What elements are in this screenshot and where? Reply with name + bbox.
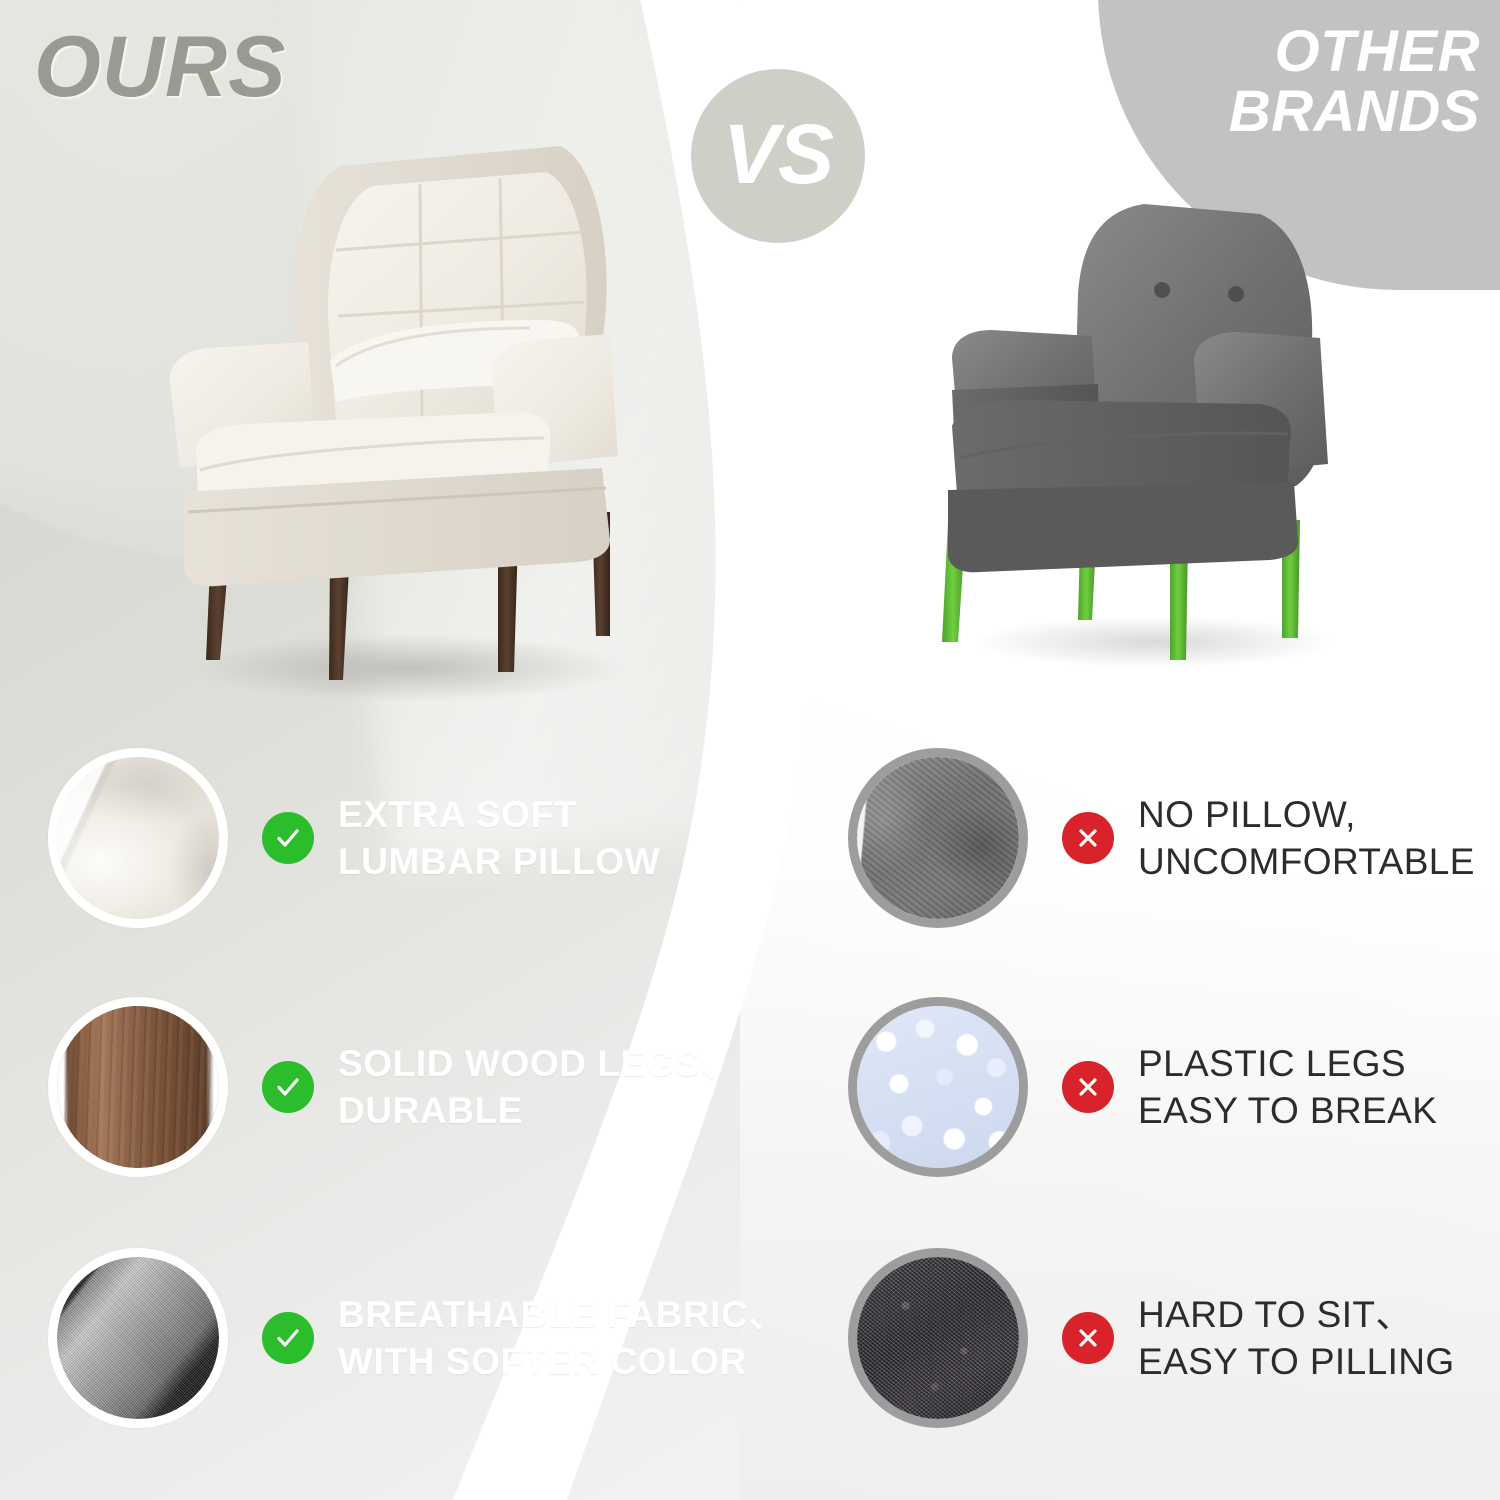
vs-badge: VS <box>678 56 878 256</box>
other-feature-1-line2: UNCOMFORTABLE <box>1138 838 1475 885</box>
ours-feature-1-line2: LUMBAR PILLOW <box>338 838 660 885</box>
ours-feature-3-line2: WITH SOFTER COLOR <box>338 1338 786 1385</box>
other-feature-row-1: NO PILLOW, UNCOMFORTABLE <box>848 748 1475 928</box>
ours-feature-row-3: BREATHABLE FABRIC、 WITH SOFTER COLOR <box>48 1248 786 1428</box>
ours-feature-row-2: SOLID WOOD LEGS、 DURABLE <box>48 997 738 1177</box>
other-feature-text-2: PLASTIC LEGS EASY TO BREAK <box>1138 1040 1437 1135</box>
other-brands-heading: OTHER BRANDS <box>1150 22 1480 143</box>
other-feature-2-line1: PLASTIC LEGS <box>1138 1040 1437 1087</box>
ours-feature-1-line1: EXTRA SOFT <box>338 791 660 838</box>
fabric-swatch-thumb <box>48 1248 228 1428</box>
cross-icon <box>1062 1061 1114 1113</box>
cross-icon <box>1062 812 1114 864</box>
ours-feature-text-2: SOLID WOOD LEGS、 DURABLE <box>338 1040 738 1135</box>
check-icon <box>262 1312 314 1364</box>
ours-feature-text-3: BREATHABLE FABRIC、 WITH SOFTER COLOR <box>338 1291 786 1386</box>
ours-feature-2-line1: SOLID WOOD LEGS、 <box>338 1040 738 1087</box>
no-pillow-thumb <box>848 748 1028 928</box>
other-feature-1-line1: NO PILLOW, <box>1138 791 1475 838</box>
other-brands-heading-line2: BRANDS <box>1150 82 1480 142</box>
ours-chair-image <box>140 120 660 725</box>
other-feature-row-3: HARD TO SIT、 EASY TO PILLING <box>848 1248 1455 1428</box>
other-feature-text-3: HARD TO SIT、 EASY TO PILLING <box>1138 1291 1455 1386</box>
comparison-infographic: OURS OTHER BRANDS VS <box>0 0 1500 1500</box>
ours-feature-2-line2: DURABLE <box>338 1087 738 1134</box>
other-feature-2-line2: EASY TO BREAK <box>1138 1087 1437 1134</box>
other-feature-text-1: NO PILLOW, UNCOMFORTABLE <box>1138 791 1475 886</box>
ours-feature-row-1: EXTRA SOFT LUMBAR PILLOW <box>48 748 660 928</box>
plastic-pellets-thumb <box>848 997 1028 1177</box>
check-icon <box>262 812 314 864</box>
ours-heading: OURS <box>34 24 286 110</box>
ours-feature-text-1: EXTRA SOFT LUMBAR PILLOW <box>338 791 660 886</box>
ours-feature-3-line1: BREATHABLE FABRIC、 <box>338 1291 786 1338</box>
vs-label: VS <box>723 112 833 196</box>
cross-icon <box>1062 1312 1114 1364</box>
lumbar-pillow-thumb <box>48 748 228 928</box>
other-brands-heading-line1: OTHER <box>1150 22 1480 82</box>
wood-leg-thumb <box>48 997 228 1177</box>
other-feature-row-2: PLASTIC LEGS EASY TO BREAK <box>848 997 1437 1177</box>
check-icon <box>262 1061 314 1113</box>
other-feature-3-line2: EASY TO PILLING <box>1138 1338 1455 1385</box>
other-feature-3-line1: HARD TO SIT、 <box>1138 1291 1455 1338</box>
pilling-fabric-thumb <box>848 1248 1028 1428</box>
other-chair-image <box>930 190 1370 675</box>
